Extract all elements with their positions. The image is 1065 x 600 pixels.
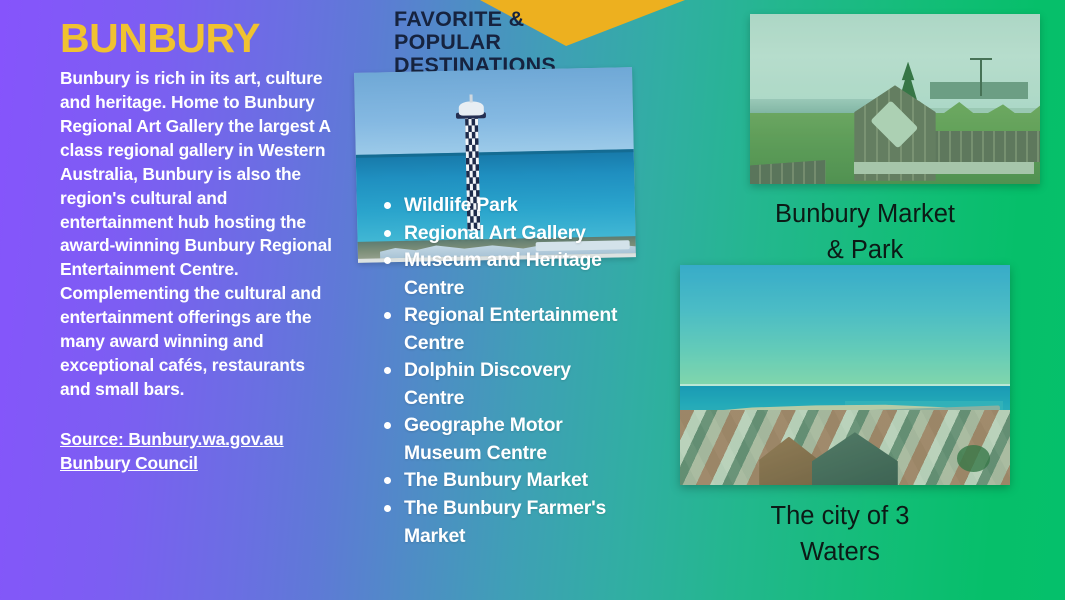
- caption-line-2: & Park: [690, 232, 1040, 268]
- caption-line-2: Waters: [675, 534, 1005, 570]
- city-of-3-waters-caption: The city of 3 Waters: [675, 498, 1005, 570]
- list-item: Regional Art Gallery: [378, 220, 628, 248]
- list-item: Museum and Heritage Centre: [378, 247, 628, 302]
- aerial-city-photo: [680, 265, 1010, 485]
- list-item: Geographe Motor Museum Centre: [378, 412, 628, 467]
- list-item: The Bunbury Farmer's Market: [378, 495, 628, 550]
- photo-green-tint-overlay: [680, 265, 1010, 485]
- source-citation: Source: Bunbury.wa.gov.au Bunbury Counci…: [60, 428, 332, 476]
- list-item: Regional Entertainment Centre: [378, 302, 628, 357]
- page-title: BUNBURY: [60, 18, 332, 59]
- source-line-2: Bunbury Council: [60, 452, 332, 476]
- caption-line-1: The city of 3: [675, 498, 1005, 534]
- list-item: Dolphin Discovery Centre: [378, 357, 628, 412]
- description-paragraph: Bunbury is rich in its art, culture and …: [60, 67, 332, 402]
- list-item: Wildlife Park: [378, 192, 628, 220]
- destinations-heading: FAVORITE & POPULAR DESTINATIONS: [394, 8, 624, 77]
- market-park-photo: [750, 14, 1040, 184]
- photo-lighthouse-lamp: [459, 102, 484, 116]
- photo-green-tint-overlay: [750, 14, 1040, 184]
- photo-sky-region: [354, 67, 634, 156]
- list-item: The Bunbury Market: [378, 467, 628, 495]
- destinations-list: Wildlife Park Regional Art Gallery Museu…: [378, 192, 628, 550]
- left-text-column: BUNBURY Bunbury is rich in its art, cult…: [60, 18, 332, 476]
- slide-canvas: BUNBURY Bunbury is rich in its art, cult…: [0, 0, 1065, 600]
- caption-line-1: Bunbury Market: [690, 196, 1040, 232]
- source-line-1: Source: Bunbury.wa.gov.au: [60, 428, 332, 452]
- market-park-caption: Bunbury Market & Park: [690, 196, 1040, 268]
